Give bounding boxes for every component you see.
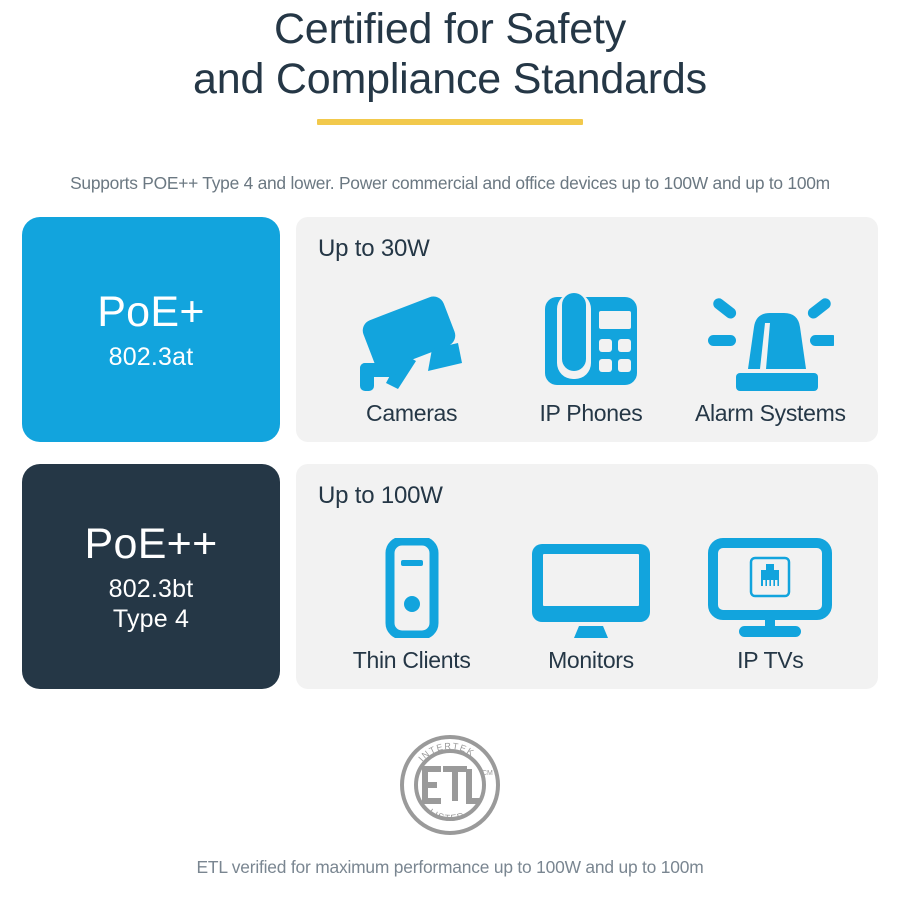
device-label: Monitors <box>548 647 634 673</box>
device-label: Thin Clients <box>353 647 471 673</box>
device-item-thin-clients: Thin Clients <box>322 538 501 673</box>
title-accent-bar <box>317 119 583 125</box>
security-camera-icon <box>354 291 470 391</box>
badge-name: PoE+ <box>97 288 205 336</box>
badge-standard: 802.3at <box>109 342 194 372</box>
device-item-ip-tvs: IP TVs <box>681 538 860 673</box>
device-grid: Thin Clients Monitors <box>318 510 864 673</box>
device-item-alarm-systems: Alarm Systems <box>681 291 860 426</box>
etl-intertek-listed-logo: CM INTERTEK LISTED <box>396 731 504 839</box>
page-title-line-1: Certified for Safety <box>0 4 900 54</box>
device-label: Alarm Systems <box>695 400 846 426</box>
device-panel-30w: Up to 30W <box>296 217 878 442</box>
device-grid: Cameras <box>318 263 864 426</box>
alarm-siren-icon <box>706 291 834 391</box>
device-panel-100w: Up to 100W Thin Clients <box>296 464 878 689</box>
monitor-icon <box>530 538 652 638</box>
standards-rows: PoE+ 802.3at Up to 30W <box>0 217 900 689</box>
device-item-ip-phones: IP Phones <box>501 291 680 426</box>
panel-heading: Up to 100W <box>318 482 864 510</box>
badge-standard: 802.3bt Type 4 <box>109 574 194 634</box>
header: Certified for Safety and Compliance Stan… <box>0 0 900 125</box>
badge-standard-line-2: Type 4 <box>109 604 194 634</box>
device-label: IP Phones <box>539 400 642 426</box>
badge-card-poe-plus: PoE+ 802.3at <box>22 217 280 442</box>
infographic-page: Certified for Safety and Compliance Stan… <box>0 0 900 900</box>
device-label: Cameras <box>366 400 457 426</box>
device-item-cameras: Cameras <box>322 291 501 426</box>
etl-superscript: CM <box>482 770 493 777</box>
ip-phone-icon <box>541 291 641 391</box>
badge-standard-line-1: 802.3bt <box>109 574 194 604</box>
badge-card-poe-plus-plus: PoE++ 802.3bt Type 4 <box>22 464 280 689</box>
ip-tv-icon <box>708 538 832 638</box>
standard-row-poe-plus: PoE+ 802.3at Up to 30W <box>22 217 878 442</box>
svg-text:LISTED: LISTED <box>427 807 467 823</box>
panel-heading: Up to 30W <box>318 235 864 263</box>
certification-mark: CM INTERTEK LISTED <box>0 731 900 839</box>
subtitle-text: Supports POE++ Type 4 and lower. Power c… <box>0 171 900 195</box>
device-label: IP TVs <box>737 647 803 673</box>
thin-client-icon <box>382 538 442 638</box>
etl-bottom-arc-text: LISTED <box>427 807 467 823</box>
standard-row-poe-plus-plus: PoE++ 802.3bt Type 4 Up to 100W <box>22 464 878 689</box>
badge-name: PoE++ <box>85 520 218 568</box>
page-title-line-2: and Compliance Standards <box>0 54 900 104</box>
footer-note: ETL verified for maximum performance up … <box>0 855 900 879</box>
device-item-monitors: Monitors <box>501 538 680 673</box>
